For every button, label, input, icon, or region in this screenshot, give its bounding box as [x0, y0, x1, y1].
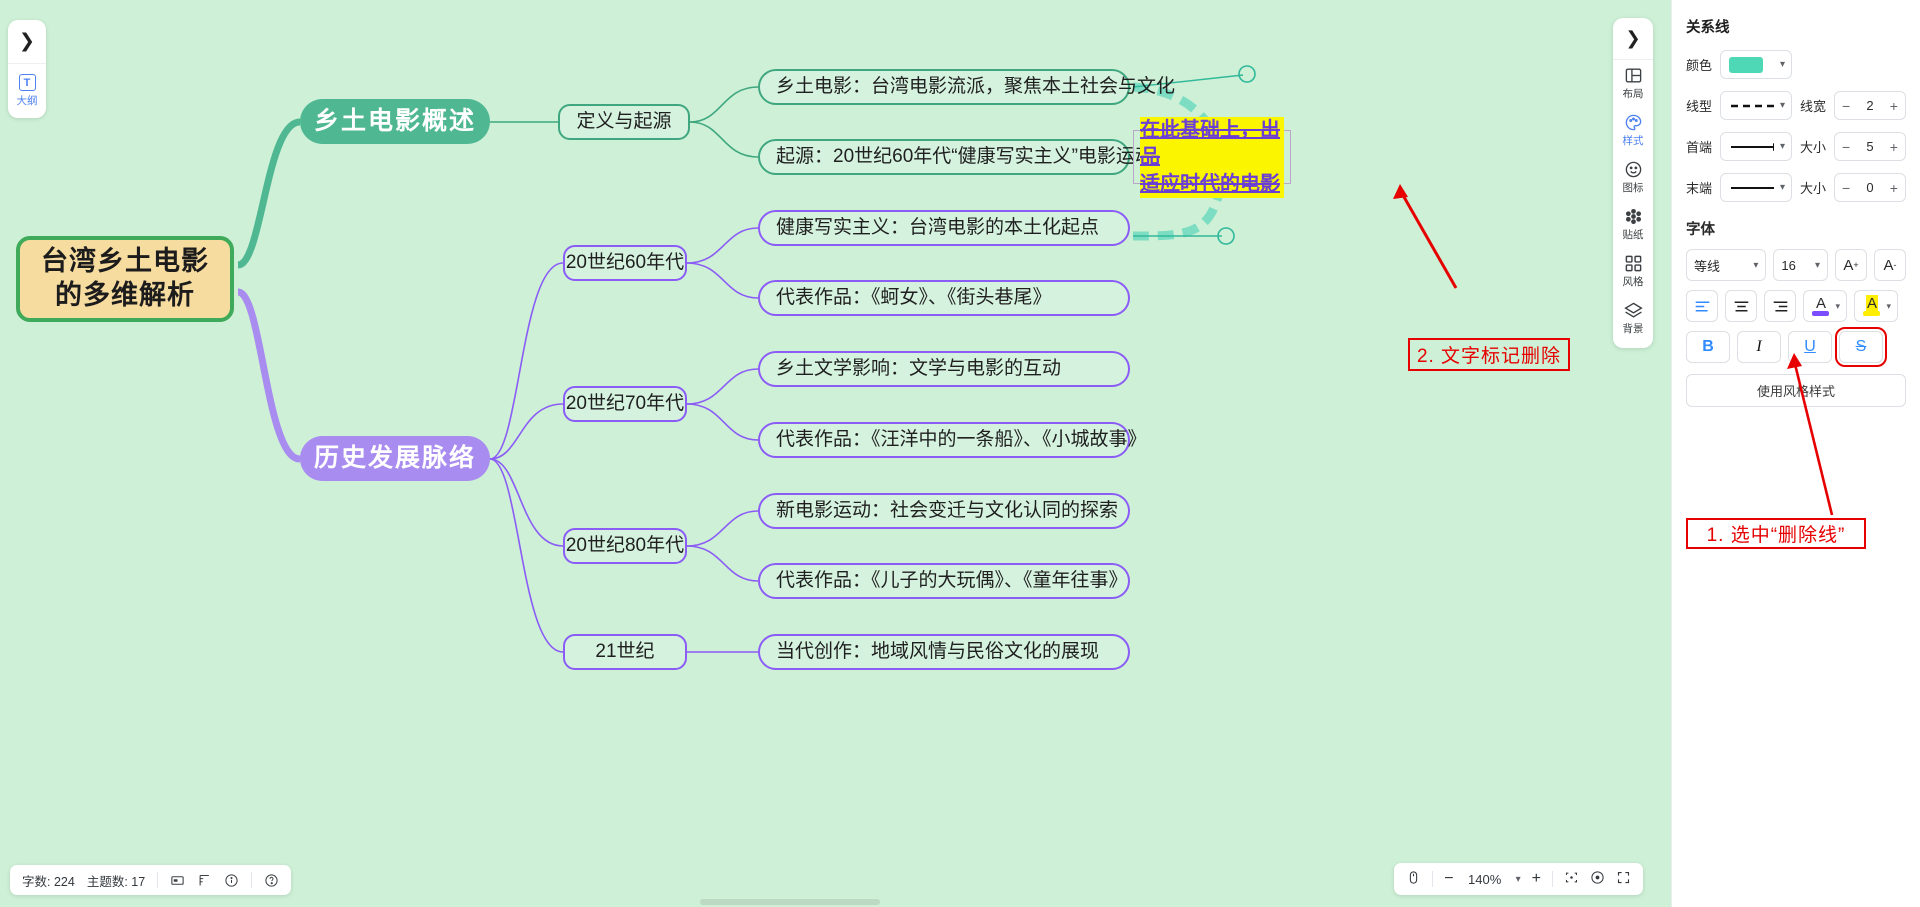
- font-size-value: 16: [1781, 258, 1795, 273]
- note-icon[interactable]: [170, 873, 185, 888]
- relation-color-label: 颜色: [1686, 55, 1712, 74]
- decrease-font-size-button[interactable]: A -: [1874, 249, 1906, 281]
- outline-button[interactable]: T 大纲: [8, 64, 46, 118]
- align-center-button[interactable]: [1725, 290, 1757, 322]
- divider: [1552, 871, 1553, 887]
- italic-label: I: [1756, 338, 1761, 356]
- chevron-down-icon: ▾: [1753, 260, 1758, 271]
- rail-label: 背景: [1623, 321, 1644, 336]
- underline-label: U: [1804, 338, 1816, 356]
- chevron-down-icon: ▾: [1780, 182, 1785, 193]
- align-left-button[interactable]: [1686, 290, 1718, 322]
- left-toolbar[interactable]: ❯ T 大纲: [8, 20, 46, 118]
- text-color-letter: A: [1816, 295, 1826, 312]
- plain-line-preview: [1729, 184, 1774, 192]
- relation-end-row: 末端 ▾ 大小 − 0 +: [1686, 173, 1906, 202]
- relation-label-text: 在此基础上，出品 适应时代的电影: [1140, 117, 1284, 198]
- style-panel[interactable]: 关系线 颜色 ▾ 线型 ▾ 线宽 − 2 +: [1671, 0, 1920, 907]
- align-color-row: A ▾ A ▾: [1686, 290, 1906, 322]
- highlight-color-swatch: [1863, 311, 1880, 316]
- font-family-value: 等线: [1694, 256, 1720, 275]
- fit-selection-icon[interactable]: [1564, 870, 1579, 888]
- panel-section-font: 字体: [1686, 218, 1906, 239]
- status-bar: 字数: 224 主题数: 17: [10, 865, 291, 895]
- layers-icon: [1624, 301, 1643, 320]
- text-color-swatch: [1812, 311, 1829, 316]
- mindmap-sub-1980s[interactable]: 20世纪80年代: [563, 528, 687, 564]
- apply-style-button[interactable]: 使用风格样式: [1686, 374, 1906, 407]
- sticker-flower-icon: [1624, 207, 1643, 226]
- rail-label: 样式: [1623, 133, 1644, 148]
- mindmap-branch-history[interactable]: 历史发展脉络: [300, 436, 490, 481]
- increase-button[interactable]: +: [1890, 98, 1898, 114]
- rail-label: 图标: [1623, 180, 1644, 195]
- relation-linetype-select[interactable]: ▾: [1720, 91, 1792, 120]
- linewidth-value: 2: [1866, 98, 1873, 113]
- highlight-color-button[interactable]: A ▾: [1854, 290, 1898, 322]
- fullscreen-icon[interactable]: [1616, 870, 1631, 888]
- mindmap-root-node[interactable]: 台湾乡土电影 的多维解析: [16, 236, 234, 322]
- chevron-down-icon: ▾: [1886, 301, 1891, 312]
- dashed-line-preview: [1729, 103, 1774, 109]
- text-format-row: B I U S: [1686, 331, 1906, 363]
- mindmap-leaf[interactable]: 代表作品：《汪洋中的一条船》、《小城故事》: [758, 422, 1130, 458]
- rail-item-icon[interactable]: 图标: [1613, 154, 1653, 201]
- mindmap-leaf[interactable]: 健康写实主义：台湾电影的本土化起点: [758, 210, 1130, 246]
- word-count: 字数: 224: [22, 871, 75, 890]
- ruler-icon[interactable]: [197, 873, 212, 888]
- font-size-select[interactable]: 16 ▾: [1773, 249, 1828, 281]
- rail-label: 贴纸: [1623, 227, 1644, 242]
- chevron-down-icon: ▾: [1780, 100, 1785, 111]
- chevron-down-icon[interactable]: ▾: [1516, 874, 1521, 885]
- info-icon[interactable]: [224, 873, 239, 888]
- text-outline-icon: T: [19, 74, 36, 91]
- mindmap-sub-21century[interactable]: 21世纪: [563, 634, 687, 670]
- horizontal-scrollbar[interactable]: [700, 899, 880, 905]
- relation-end-select[interactable]: ▾: [1720, 173, 1792, 202]
- relation-linetype-row: 线型 ▾ 线宽 − 2 +: [1686, 91, 1906, 120]
- align-right-icon: [1772, 300, 1789, 313]
- chevron-down-icon: ▾: [1815, 260, 1820, 271]
- mindmap-leaf[interactable]: 起源：20世纪60年代“健康写实主义”电影运动: [758, 139, 1130, 175]
- chevron-down-icon: ▾: [1780, 141, 1785, 152]
- text-color-button[interactable]: A ▾: [1803, 290, 1847, 322]
- style-rail[interactable]: ❯ 布局 样式 图标: [1613, 18, 1653, 348]
- relation-start-row: 首端 ▾ 大小 − 5 +: [1686, 132, 1906, 161]
- mindmap-sub-1970s[interactable]: 20世纪70年代: [563, 386, 687, 422]
- relation-color-row: 颜色 ▾: [1686, 50, 1906, 79]
- app-root: 台湾乡土电影 的多维解析 乡土电影概述 历史发展脉络 定义与起源 乡土电影：台湾…: [0, 0, 1920, 907]
- font-increase-sup: +: [1853, 260, 1858, 270]
- font-row: 等线 ▾ 16 ▾ A + A -: [1686, 249, 1906, 281]
- relation-linetype-label: 线型: [1686, 96, 1712, 115]
- strikethrough-button[interactable]: S: [1839, 331, 1883, 363]
- strikethrough-label: S: [1856, 338, 1867, 356]
- zoom-level[interactable]: 140%: [1465, 872, 1505, 887]
- relation-start-select[interactable]: ▾: [1720, 132, 1792, 161]
- bold-label: B: [1702, 338, 1714, 356]
- relation-end-size-stepper[interactable]: − 0 +: [1834, 173, 1906, 202]
- bold-button[interactable]: B: [1686, 331, 1730, 363]
- increase-button[interactable]: +: [1890, 139, 1898, 155]
- topic-count: 主题数: 17: [87, 871, 145, 890]
- font-family-select[interactable]: 等线 ▾: [1686, 249, 1766, 281]
- rail-item-theme[interactable]: 风格: [1613, 248, 1653, 295]
- relation-linewidth-stepper[interactable]: − 2 +: [1834, 91, 1906, 120]
- mindmap-branch-overview[interactable]: 乡土电影概述: [300, 99, 490, 144]
- rail-item-layout[interactable]: 布局: [1613, 60, 1653, 107]
- mouse-icon[interactable]: [1406, 870, 1421, 888]
- mindmap-leaf[interactable]: 代表作品：《蚵女》、《街头巷尾》: [758, 280, 1130, 316]
- help-icon[interactable]: [264, 873, 279, 888]
- decrease-button[interactable]: −: [1842, 139, 1850, 155]
- decrease-button[interactable]: −: [1842, 180, 1850, 196]
- rail-label: 风格: [1623, 274, 1644, 289]
- relation-start-size-label: 大小: [1800, 137, 1826, 156]
- relation-label-node[interactable]: 在此基础上，出品 适应时代的电影: [1133, 130, 1291, 184]
- zoom-out-button[interactable]: −: [1444, 870, 1453, 888]
- annotation-step-1: 1. 选中“删除线”: [1686, 518, 1866, 549]
- outline-label: 大纲: [17, 93, 38, 108]
- divider: [1432, 871, 1433, 887]
- mindmap-leaf[interactable]: 代表作品：《儿子的大玩偶》、《童年往事》: [758, 563, 1130, 599]
- arrow-right-preview: [1729, 142, 1774, 152]
- mindmap-leaf[interactable]: 当代创作：地域风情与民俗文化的展现: [758, 634, 1130, 670]
- mindmap-leaf[interactable]: 新电影运动：社会变迁与文化认同的探索: [758, 493, 1130, 529]
- center-icon[interactable]: [1590, 870, 1605, 888]
- mindmap-canvas[interactable]: 台湾乡土电影 的多维解析 乡土电影概述 历史发展脉络 定义与起源 乡土电影：台湾…: [0, 0, 1671, 907]
- mindmap-leaf[interactable]: 乡土文学影响：文学与电影的互动: [758, 351, 1130, 387]
- rail-item-background[interactable]: 背景: [1613, 295, 1653, 342]
- start-size-value: 5: [1866, 139, 1873, 154]
- relation-linewidth-label: 线宽: [1800, 96, 1826, 115]
- increase-button[interactable]: +: [1890, 180, 1898, 196]
- relation-color-select[interactable]: ▾: [1720, 50, 1792, 79]
- highlight-letter: A: [1866, 295, 1878, 312]
- divider: [157, 872, 158, 888]
- increase-font-size-button[interactable]: A +: [1835, 249, 1867, 281]
- zoom-bar[interactable]: − 140% ▾ +: [1394, 863, 1643, 895]
- chevron-down-icon: ▾: [1835, 301, 1840, 312]
- font-increase-letter: A: [1843, 257, 1853, 274]
- rail-item-style[interactable]: 样式: [1613, 107, 1653, 154]
- divider: [251, 872, 252, 888]
- underline-button[interactable]: U: [1788, 331, 1832, 363]
- collapse-panel-icon[interactable]: ❯: [1613, 18, 1653, 60]
- rail-item-sticker[interactable]: 贴纸: [1613, 201, 1653, 248]
- smiley-icon: [1624, 160, 1643, 179]
- italic-button[interactable]: I: [1737, 331, 1781, 363]
- mindmap-sub-1960s[interactable]: 20世纪60年代: [563, 245, 687, 281]
- relation-end-size-label: 大小: [1800, 178, 1826, 197]
- color-swatch: [1729, 57, 1763, 73]
- relation-start-label: 首端: [1686, 137, 1712, 156]
- chevron-down-icon: ▾: [1780, 59, 1785, 70]
- end-size-value: 0: [1866, 180, 1873, 195]
- font-decrease-letter: A: [1883, 257, 1893, 274]
- font-decrease-sup: -: [1894, 260, 1897, 270]
- layout-icon: [1624, 66, 1643, 85]
- annotation-step-2: 2. 文字标记删除: [1408, 338, 1570, 371]
- align-right-button[interactable]: [1764, 290, 1796, 322]
- palette-icon: [1624, 113, 1643, 132]
- zoom-in-button[interactable]: +: [1532, 870, 1541, 888]
- mindmap-sub-definition[interactable]: 定义与起源: [558, 104, 690, 140]
- align-left-icon: [1694, 300, 1711, 313]
- panel-section-relation-line: 关系线: [1686, 16, 1906, 37]
- relation-start-size-stepper[interactable]: − 5 +: [1834, 132, 1906, 161]
- decrease-button[interactable]: −: [1842, 98, 1850, 114]
- rail-label: 布局: [1623, 86, 1644, 101]
- align-center-icon: [1733, 300, 1750, 313]
- relation-end-label: 末端: [1686, 178, 1712, 197]
- grid-squares-icon: [1624, 254, 1643, 273]
- mindmap-leaf[interactable]: 乡土电影：台湾电影流派，聚焦本土社会与文化: [758, 69, 1130, 105]
- expand-sidebar-icon[interactable]: ❯: [8, 20, 46, 64]
